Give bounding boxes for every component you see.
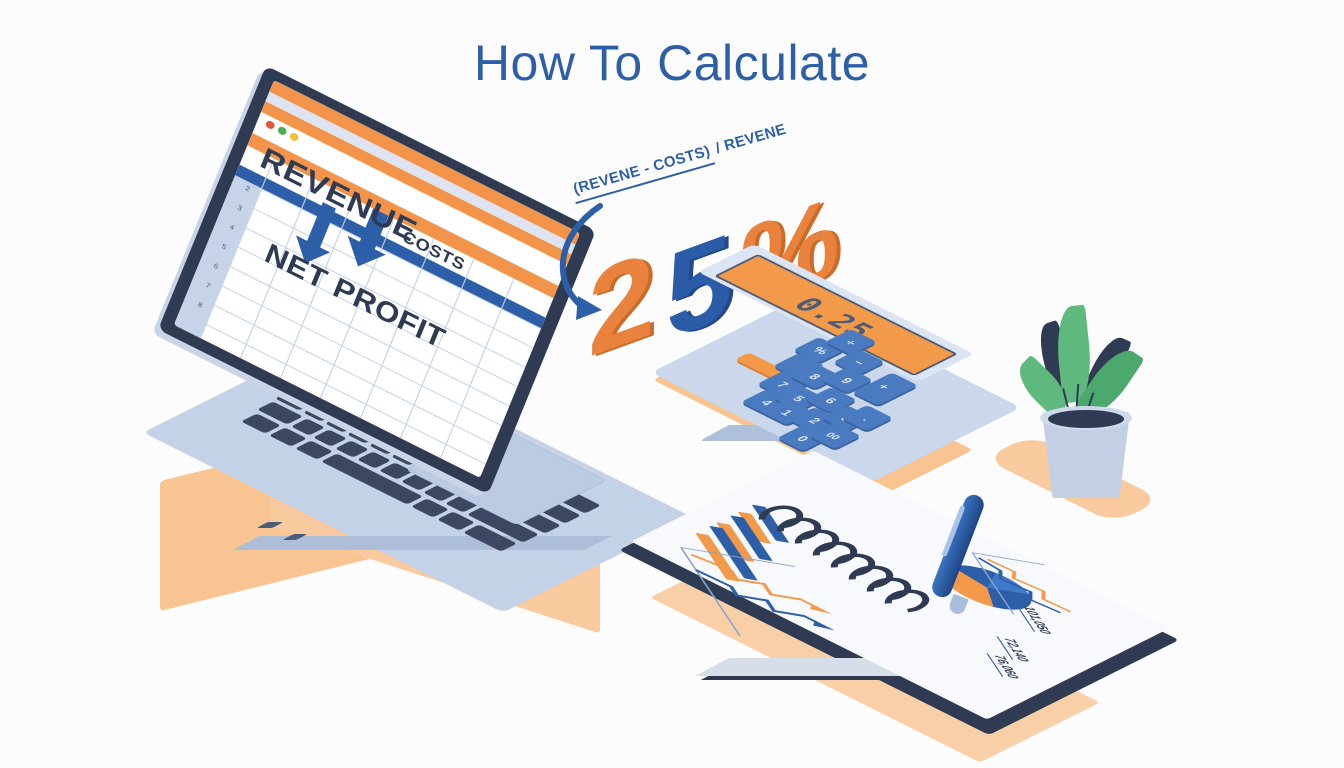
plant-soil — [1048, 410, 1124, 428]
illustration-canvas: How To Calculate — [0, 0, 1344, 768]
potted-plant-illustration — [1000, 300, 1190, 530]
formula-denominator: / REVENE — [713, 118, 789, 159]
percent-digit-2: 2 — [588, 223, 655, 385]
page-title: How To Calculate — [0, 34, 1344, 92]
